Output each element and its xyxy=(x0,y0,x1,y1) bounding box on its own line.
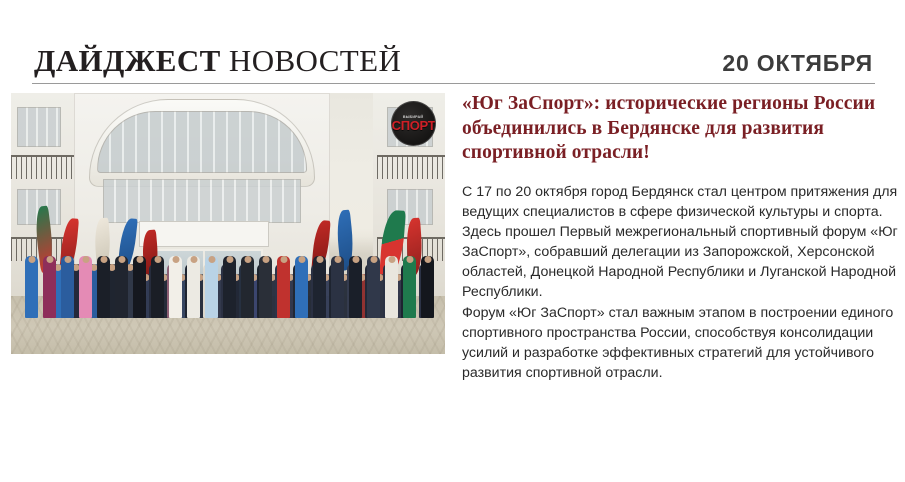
person xyxy=(25,256,38,318)
article-paragraph-1: С 17 по 20 октября город Бердянск стал ц… xyxy=(462,182,902,303)
person xyxy=(151,256,164,318)
article-photo: ВЫБИРАЙ СПОРТ xyxy=(11,93,445,354)
person xyxy=(331,256,344,318)
page-title-bold: ДАЙДЖЕСТ xyxy=(34,43,221,78)
balcony-rail xyxy=(11,155,77,179)
person xyxy=(313,256,326,318)
article-headline: «Юг ЗаСпорт»: исторические регионы Росси… xyxy=(462,92,902,166)
article-column: «Юг ЗаСпорт»: исторические регионы Росси… xyxy=(462,92,902,383)
sport-logo-main-text: СПОРТ xyxy=(392,119,436,133)
sport-logo-top-text: ВЫБИРАЙ xyxy=(403,115,423,119)
person xyxy=(295,256,308,318)
page-title-light: НОВОСТЕЙ xyxy=(229,43,401,78)
balcony-rail xyxy=(377,155,445,179)
crowd-group xyxy=(11,226,445,318)
photo-scene: ВЫБИРАЙ СПОРТ xyxy=(11,93,445,354)
page-title: ДАЙДЖЕСТ НОВОСТЕЙ xyxy=(34,45,401,76)
article-body: С 17 по 20 октября город Бердянск стал ц… xyxy=(462,182,902,384)
person xyxy=(97,256,110,318)
glass-facade-lower xyxy=(103,179,301,223)
person xyxy=(241,256,254,318)
person xyxy=(61,256,74,318)
digest-page: ДАЙДЖЕСТ НОВОСТЕЙ 20 ОКТЯБРЯ xyxy=(0,0,905,482)
person xyxy=(403,256,416,318)
masthead: ДАЙДЖЕСТ НОВОСТЕЙ 20 ОКТЯБРЯ xyxy=(0,34,905,76)
person xyxy=(385,256,398,318)
person xyxy=(43,256,56,318)
person xyxy=(223,256,236,318)
person xyxy=(349,256,362,318)
person xyxy=(277,256,290,318)
glass-facade-upper xyxy=(97,111,307,173)
person xyxy=(115,256,128,318)
sport-logo-badge: ВЫБИРАЙ СПОРТ xyxy=(391,101,436,146)
article-paragraph-2: Форум «Юг ЗаСпорт» стал важным этапом в … xyxy=(462,303,902,384)
person xyxy=(259,256,272,318)
person xyxy=(79,256,92,318)
issue-date: 20 ОКТЯБРЯ xyxy=(722,52,873,76)
person xyxy=(187,256,200,318)
person xyxy=(367,256,380,318)
header-divider xyxy=(32,83,875,84)
person xyxy=(133,256,146,318)
window xyxy=(17,107,61,147)
person xyxy=(421,256,434,318)
person xyxy=(169,256,182,318)
person xyxy=(205,256,218,318)
